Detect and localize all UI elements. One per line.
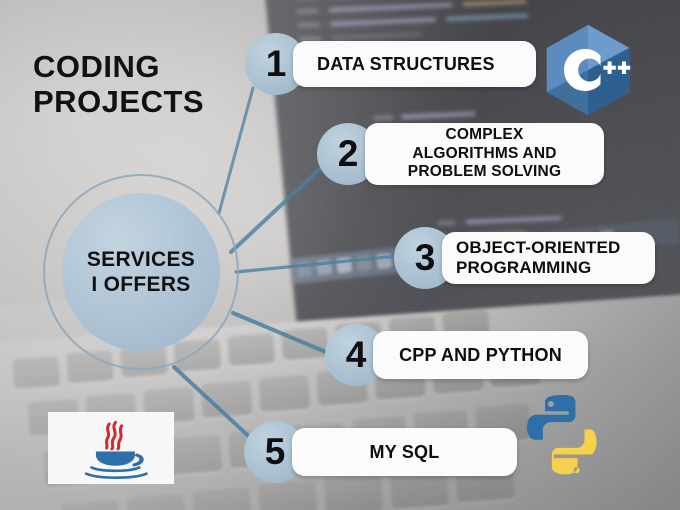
page-title-line-1: Coding bbox=[33, 50, 263, 85]
list-item[interactable]: 5 MY SQL bbox=[244, 421, 517, 483]
page-title-line-2: Projects bbox=[33, 85, 263, 120]
list-item[interactable]: 4 CPP AND PYTHON bbox=[325, 324, 588, 386]
list-item[interactable]: 2 COMPLEX ALGORITHMS AND PROBLEM SOLVING bbox=[317, 123, 604, 185]
item-label-pill-5[interactable]: MY SQL bbox=[292, 428, 517, 476]
item-label-pill-2[interactable]: COMPLEX ALGORITHMS AND PROBLEM SOLVING bbox=[365, 123, 604, 185]
item-label-4: CPP AND PYTHON bbox=[399, 345, 562, 366]
hub-label: Services I Offers bbox=[87, 247, 195, 297]
page-title: Coding Projects bbox=[33, 50, 263, 119]
list-item[interactable]: 3 OBJECT-ORIENTED PROGRAMMING bbox=[394, 227, 655, 289]
item-label-pill-4[interactable]: CPP AND PYTHON bbox=[373, 331, 588, 379]
item-label-3-line-1: OBJECT-ORIENTED bbox=[456, 238, 621, 258]
item-label-2-line-3: PROBLEM SOLVING bbox=[408, 163, 561, 182]
hub-circle: Services I Offers bbox=[62, 193, 220, 351]
item-label-pill-3[interactable]: OBJECT-ORIENTED PROGRAMMING bbox=[442, 232, 655, 284]
infographic-canvas: Coding Projects Services I Offers 1 DATA… bbox=[0, 0, 680, 510]
item-label-3-line-2: PROGRAMMING bbox=[456, 258, 621, 278]
item-label-2-line-2: ALGORITHMS AND bbox=[408, 145, 561, 164]
item-label-1: DATA STRUCTURES bbox=[317, 54, 495, 75]
item-label-pill-1[interactable]: DATA STRUCTURES bbox=[293, 41, 536, 87]
item-label-2-line-1: COMPLEX bbox=[408, 126, 561, 145]
hub-label-line-1: Services bbox=[87, 247, 195, 272]
item-label-5: MY SQL bbox=[370, 442, 440, 463]
hub-label-line-2: I Offers bbox=[87, 272, 195, 297]
java-logo-icon bbox=[48, 412, 174, 484]
python-logo-icon bbox=[515, 388, 613, 488]
list-item[interactable]: 1 DATA STRUCTURES bbox=[245, 33, 536, 95]
cpp-logo-icon bbox=[537, 22, 639, 118]
